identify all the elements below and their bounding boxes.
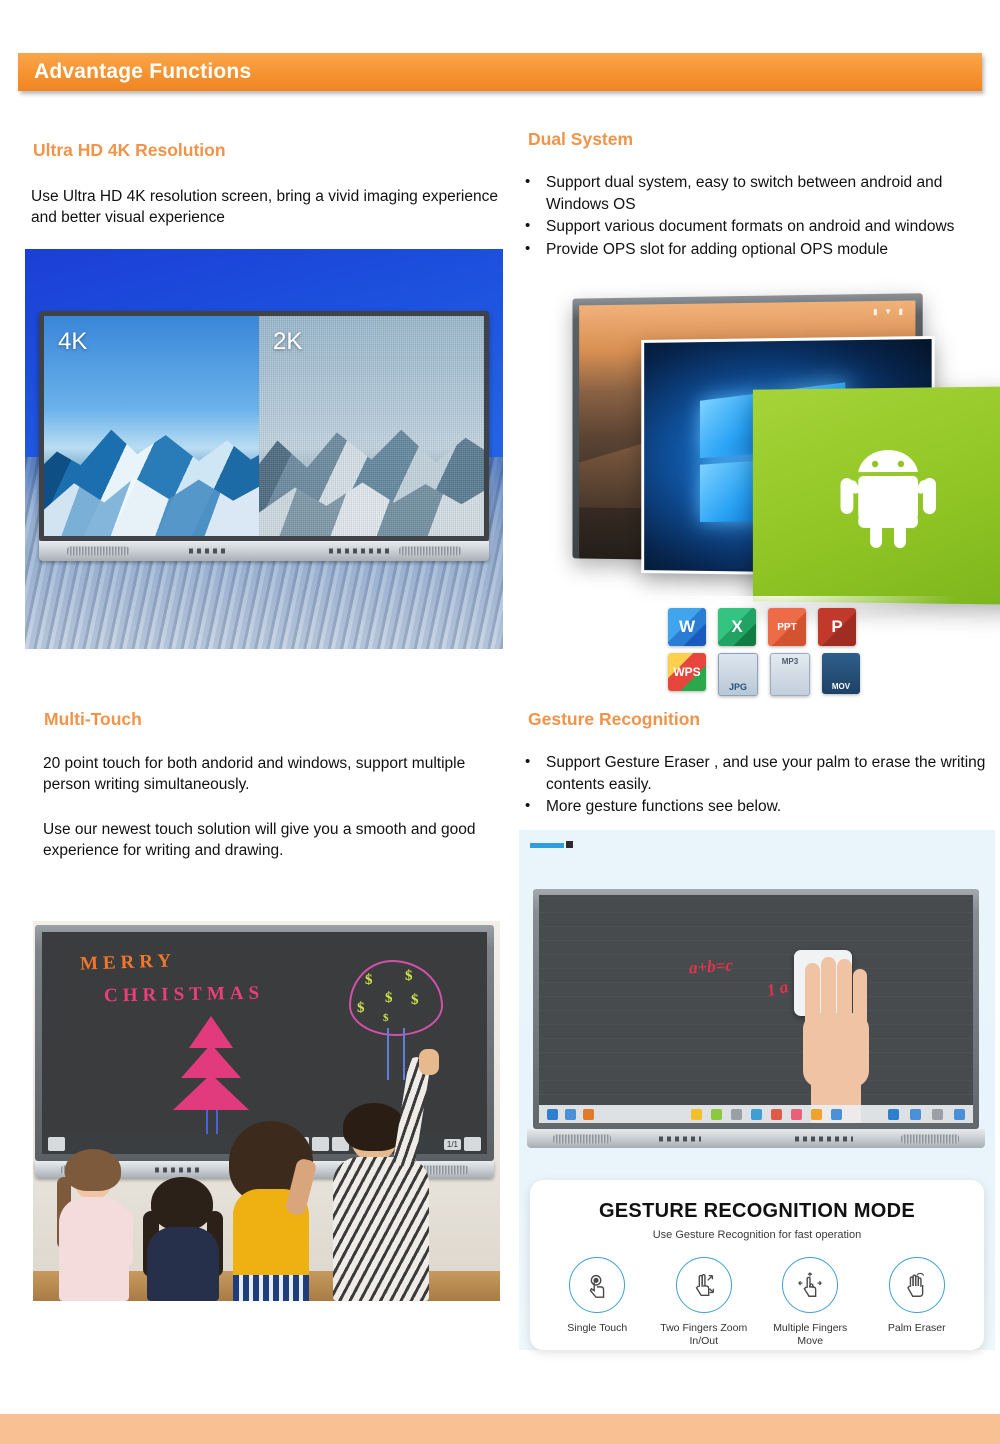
gesture-bullet-list: Support Gesture Eraser , and use your pa…: [520, 752, 998, 819]
gesture-bullet-item: Support Gesture Eraser , and use your pa…: [520, 752, 998, 795]
toolbar-menu-icon[interactable]: [547, 1109, 558, 1120]
toolbar-table-icon[interactable]: [771, 1109, 782, 1120]
toolbar-pen-icon[interactable]: [691, 1109, 702, 1120]
gesture-mode-label: Single Touch: [547, 1322, 647, 1335]
section-heading-ultra-hd: Ultra HD 4K Resolution: [33, 140, 226, 161]
two-finger-zoom-icon: [676, 1257, 732, 1313]
toolbar-insert-icon[interactable]: [811, 1109, 822, 1120]
image-4k-vs-2k-display: 4K 2K: [25, 249, 503, 649]
palm-hand-graphic: [801, 957, 875, 1123]
gesture-eraser-board: a+b=c 1 a: [533, 889, 979, 1129]
ir-sensor-dots: [329, 549, 391, 554]
handwriting-equation-2: 1 a: [765, 977, 790, 1001]
drawing-text-merry: MERRY: [80, 950, 177, 975]
dollar-sign: $: [357, 1000, 365, 1017]
gesture-board-screen: a+b=c 1 a: [539, 895, 973, 1123]
dual-system-bullet-list: Support dual system, easy to switch betw…: [520, 172, 995, 261]
excel-file-icon: X: [718, 608, 756, 646]
supported-file-formats: WXPPTP WPSJPGMP3MOV: [668, 608, 888, 703]
toolbar-capture-icon[interactable]: [565, 1109, 576, 1120]
toolbar-tool-icon[interactable]: [583, 1109, 594, 1120]
tree-trunk: [387, 1028, 405, 1080]
single-touch-icon: [569, 1257, 625, 1313]
child-navy-shirt: [137, 1177, 229, 1301]
toolbar-brush-icon[interactable]: [711, 1109, 722, 1120]
toolbar-select-icon[interactable]: [731, 1109, 742, 1120]
toolbar-settings-icon[interactable]: [888, 1109, 899, 1120]
speaker-grille-right: [399, 547, 461, 556]
section-heading-multi-touch: Multi-Touch: [44, 709, 142, 730]
screen-half-4k: 4K: [44, 316, 259, 536]
toolbar-next-icon[interactable]: [954, 1109, 965, 1120]
gesture-mode-list: Single TouchTwo Fingers Zoom In/OutMulti…: [530, 1257, 984, 1348]
gesture-card-subtitle: Use Gesture Recognition for fast operati…: [530, 1229, 984, 1241]
child-striped-shirt: [323, 1101, 443, 1301]
drawing-text-christmas: CHRISTMAS: [104, 983, 264, 1008]
toolbar-previous-icon[interactable]: [910, 1109, 921, 1120]
android-os-screen: [753, 386, 1000, 604]
dual-system-bullet-item: Support dual system, easy to switch betw…: [520, 172, 995, 215]
image-dual-system-displays: ▮ ▼ ▮: [560, 288, 995, 618]
label-4k: 4K: [58, 328, 87, 356]
page-title: Advantage Functions: [34, 60, 251, 84]
page-indicator: 1/1: [444, 1139, 461, 1150]
toolbar-page-icon[interactable]: [932, 1109, 943, 1120]
wps-file-icon: WPS: [668, 653, 706, 691]
gesture-bullet-item: More gesture functions see below.: [520, 796, 998, 818]
gesture-card-title: GESTURE RECOGNITION MODE: [530, 1180, 984, 1223]
image-children-drawing-board: MERRY CHRISTMAS $ $ $ $ $ $: [33, 921, 500, 1301]
palm-eraser-icon: [889, 1257, 945, 1313]
screen-half-2k: 2K: [259, 316, 484, 536]
speaker-grille-right: [901, 1134, 959, 1143]
toolbar-shape-icon[interactable]: [751, 1109, 762, 1120]
toolbar-more-icon[interactable]: [831, 1109, 842, 1120]
gesture-mode-item: Multiple Fingers Move: [760, 1257, 860, 1348]
mp3-file-icon: MP3: [770, 653, 810, 696]
status-bar-icons: ▮ ▼ ▮: [873, 307, 905, 317]
control-buttons: [659, 1136, 701, 1141]
accent-square-marker: [566, 841, 573, 848]
handwriting-equation: a+b=c: [688, 955, 733, 978]
blue-accent-line: [530, 843, 564, 848]
mov-file-icon: MOV: [822, 653, 860, 694]
child-pink-shirt: [51, 1149, 139, 1301]
gesture-mode-item: Palm Eraser: [867, 1257, 967, 1348]
display-panel: 4K 2K: [39, 311, 489, 541]
tree-crown: [349, 960, 443, 1036]
dollar-sign: $: [405, 968, 413, 985]
gesture-mode-item: Single Touch: [547, 1257, 647, 1348]
multiple-fingers-move-icon: [782, 1257, 838, 1313]
toolbar-eraser-icon[interactable]: [791, 1109, 802, 1120]
speaker-grille-left: [553, 1134, 611, 1143]
dollar-sign: $: [411, 992, 419, 1009]
gesture-mode-label: Multiple Fingers Move: [760, 1322, 860, 1348]
section-heading-dual-system: Dual System: [528, 129, 633, 150]
jpg-file-icon: JPG: [718, 653, 758, 696]
control-buttons: [155, 1167, 201, 1172]
gesture-mode-label: Palm Eraser: [867, 1322, 967, 1335]
speaker-grille-left: [67, 547, 129, 556]
drawing-christmas-tree: [172, 1016, 250, 1136]
board-toolbar[interactable]: [539, 1105, 973, 1123]
gesture-demo-panel: a+b=c 1 a: [519, 830, 995, 1350]
gesture-board-bottom-bezel: [527, 1129, 985, 1148]
control-buttons: [189, 549, 229, 554]
page-footer-band: [0, 1414, 1000, 1444]
dual-system-bullet-item: Provide OPS slot for adding optional OPS…: [520, 239, 995, 261]
word-file-icon: W: [668, 608, 706, 646]
section-heading-gesture-recognition: Gesture Recognition: [528, 709, 700, 730]
dollar-sign: $: [365, 972, 373, 989]
gesture-mode-label: Two Fingers Zoom In/Out: [654, 1322, 754, 1348]
multi-touch-paragraph-1: 20 point touch for both andorid and wind…: [43, 753, 493, 795]
gesture-recognition-mode-card: GESTURE RECOGNITION MODE Use Gesture Rec…: [530, 1180, 984, 1350]
gesture-mode-item: Two Fingers Zoom In/Out: [654, 1257, 754, 1348]
dual-system-bullet-item: Support various document formats on andr…: [520, 216, 995, 238]
dollar-sign: $: [385, 990, 393, 1007]
android-robot-icon: [834, 435, 941, 556]
ir-sensor-dots: [795, 1136, 853, 1141]
child-yellow-shirt: [219, 1125, 323, 1301]
pdf-file-icon: P: [818, 608, 856, 646]
page-header-banner: Advantage Functions: [18, 53, 982, 91]
dollar-sign: $: [383, 1012, 389, 1024]
label-2k: 2K: [273, 328, 302, 356]
next-page-button[interactable]: [464, 1137, 481, 1151]
ultra-hd-description: Use Ultra HD 4K resolution screen, bring…: [31, 186, 501, 228]
powerpoint-file-icon: PPT: [768, 608, 806, 646]
multi-touch-paragraph-2: Use our newest touch solution will give …: [43, 819, 488, 861]
display-bottom-bezel: [39, 541, 489, 561]
